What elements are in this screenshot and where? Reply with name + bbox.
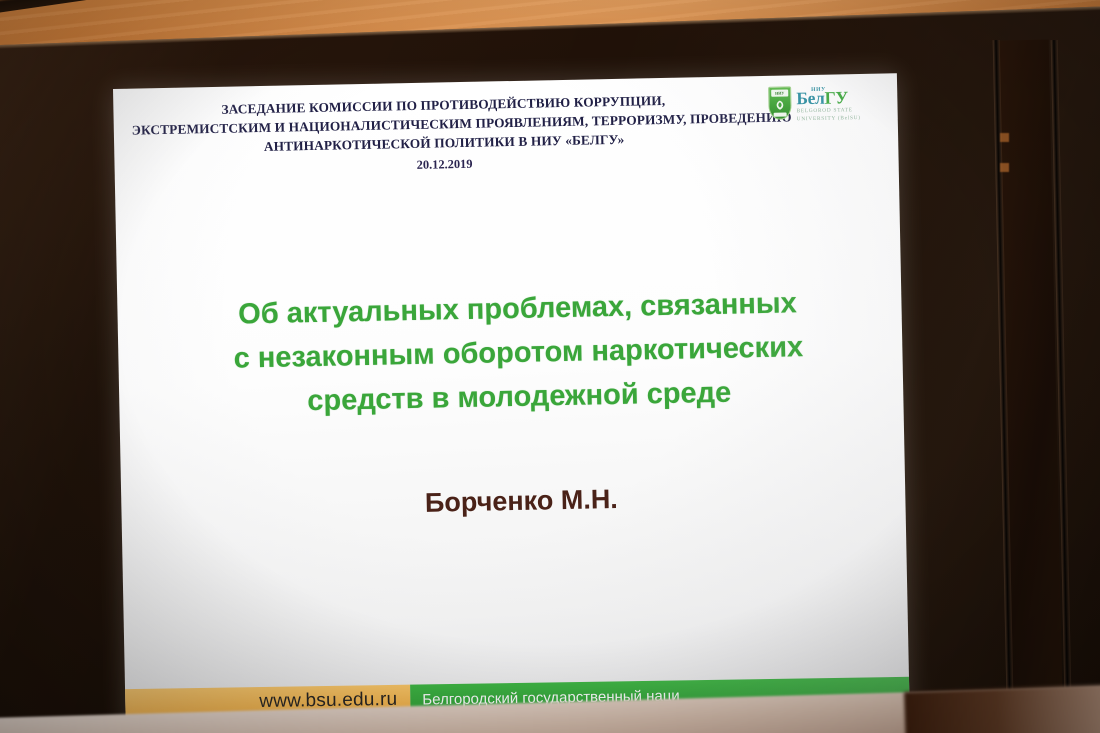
shield-base-band: [774, 112, 787, 116]
panel-notch: [1000, 163, 1009, 172]
logo-wordmark: НИУ БелГУ BELGOROD STATE UNIVERSITY (Bel…: [796, 85, 861, 123]
logo-name-gu: ГУ: [824, 87, 848, 107]
logo-name-bel: Бел: [796, 88, 825, 109]
logo-english-line-2: UNIVERSITY (BelSU): [797, 115, 861, 123]
slide-header: ЗАСЕДАНИЕ КОМИССИИ ПО ПРОТИВОДЕЙСТВИЮ КО…: [113, 90, 774, 179]
shield-emblem-icon: НИУ: [768, 86, 792, 119]
slide-author-name: Борченко М.Н.: [211, 480, 831, 523]
presentation-slide: ЗАСЕДАНИЕ КОМИССИИ ПО ПРОТИВОДЕЙСТВИЮ КО…: [113, 73, 910, 729]
shield-top-text: НИУ: [771, 89, 788, 96]
panel-notch: [1000, 133, 1009, 142]
photo-scene: QUOS ЗАСЕДАНИЕ КОМИССИИ ПО ПРОТИВОДЕЙСТВ…: [0, 0, 1100, 733]
logo-english-line-1: BELGOROD STATE: [797, 107, 861, 115]
foreground-dark-object: [904, 684, 1100, 733]
university-logo: НИУ НИУ БелГУ BELGOROD STATE UNIVERSITY …: [768, 85, 861, 124]
lion-crest-icon: [773, 99, 786, 112]
slide-title: Об актуальных проблемах, связанных с нез…: [207, 281, 830, 426]
logo-name: БелГУ: [796, 89, 860, 107]
